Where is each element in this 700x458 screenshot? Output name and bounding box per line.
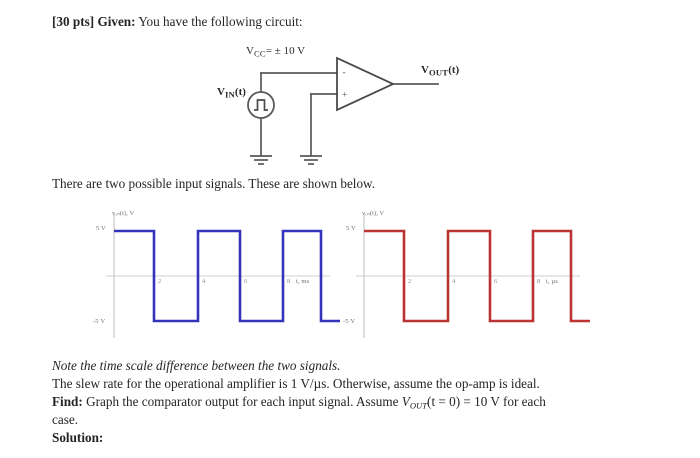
label-vin: VIN(t) xyxy=(217,86,246,99)
input-signal-2-svg xyxy=(342,206,592,346)
find-text-b: (t = 0) = 10 V for each xyxy=(427,394,546,409)
x-axis-label: t, ms xyxy=(296,278,309,285)
opamp-inverting-sign: - xyxy=(343,67,346,77)
x-tick-label-2: 2 xyxy=(158,278,161,285)
find-line: Find: Graph the comparator output for ea… xyxy=(52,393,546,414)
slew-rate-line: The slew rate for the operational amplif… xyxy=(52,375,540,393)
y-tick-label-low: -5 V xyxy=(93,318,105,325)
pulse-source-circle xyxy=(248,92,274,118)
note-line: Note the time scale difference between t… xyxy=(52,357,340,375)
label-vcc-value: = ± 10 V xyxy=(266,45,305,57)
label-vout: VOUT(t) xyxy=(421,64,459,77)
input-signal-1-svg xyxy=(92,206,342,346)
x-tick-label-8: 8 xyxy=(537,278,540,285)
label-vcc-v: V xyxy=(246,45,254,57)
slew-text-a: The slew rate for the operational amplif… xyxy=(52,376,314,391)
y-axis-label: vₒₙ(t), V xyxy=(362,209,384,217)
x-tick-label-6: 6 xyxy=(494,278,497,285)
label-vin-v: V xyxy=(217,86,225,98)
ground-symbol-source xyxy=(250,156,272,164)
opamp-noninverting-sign: + xyxy=(342,91,347,101)
label-vin-sub: IN xyxy=(225,89,235,99)
case-line: case. xyxy=(52,411,78,429)
circuit-diagram: - + VCC= ± 10 V VIN(t) VOUT(t) xyxy=(200,44,500,174)
find-v-symbol: V xyxy=(402,394,410,409)
signals-line: There are two possible input signals. Th… xyxy=(52,175,375,193)
ground-symbol-noninverting xyxy=(300,156,322,164)
points-label: [30 pts] xyxy=(52,14,94,29)
y-axis-label: vₒₙ(t), V xyxy=(112,209,134,217)
label-vout-v: V xyxy=(421,64,429,76)
x-axis-label: t, µs xyxy=(546,278,558,285)
input-signal-2-chart: vₒₙ(t), V 5 V -5 V 2 4 6 8 t, µs xyxy=(342,206,592,346)
x-tick-label-8: 8 xyxy=(287,278,290,285)
solution-label: Solution: xyxy=(52,429,103,447)
x-tick-label-2: 2 xyxy=(408,278,411,285)
find-label: Find: xyxy=(52,394,83,409)
label-vcc: VCC= ± 10 V xyxy=(246,45,305,58)
label-vout-suffix: (t) xyxy=(448,64,459,76)
y-tick-label-low: -5 V xyxy=(343,318,355,325)
y-tick-label-high: 5 V xyxy=(96,225,106,232)
x-tick-label-4: 4 xyxy=(452,278,455,285)
x-tick-label-6: 6 xyxy=(244,278,247,285)
x-tick-label-4: 4 xyxy=(202,278,205,285)
label-vout-sub: OUT xyxy=(429,67,448,77)
opamp-triangle xyxy=(337,58,393,110)
label-vcc-sub: CC xyxy=(254,48,266,58)
given-label: Given: xyxy=(97,14,135,29)
label-vin-suffix: (t) xyxy=(235,86,246,98)
find-text-a: Graph the comparator output for each inp… xyxy=(86,394,402,409)
y-tick-label-high: 5 V xyxy=(346,225,356,232)
find-out-subscript: OUT xyxy=(410,400,427,410)
given-text: You have the following circuit: xyxy=(138,14,302,29)
slew-text-b: s. Otherwise, assume the op-amp is ideal… xyxy=(321,376,540,391)
given-line: [30 pts] Given: You have the following c… xyxy=(52,13,303,31)
input-signal-1-chart: vₒₙ(t), V 5 V -5 V 2 4 6 8 t, ms xyxy=(92,206,342,346)
